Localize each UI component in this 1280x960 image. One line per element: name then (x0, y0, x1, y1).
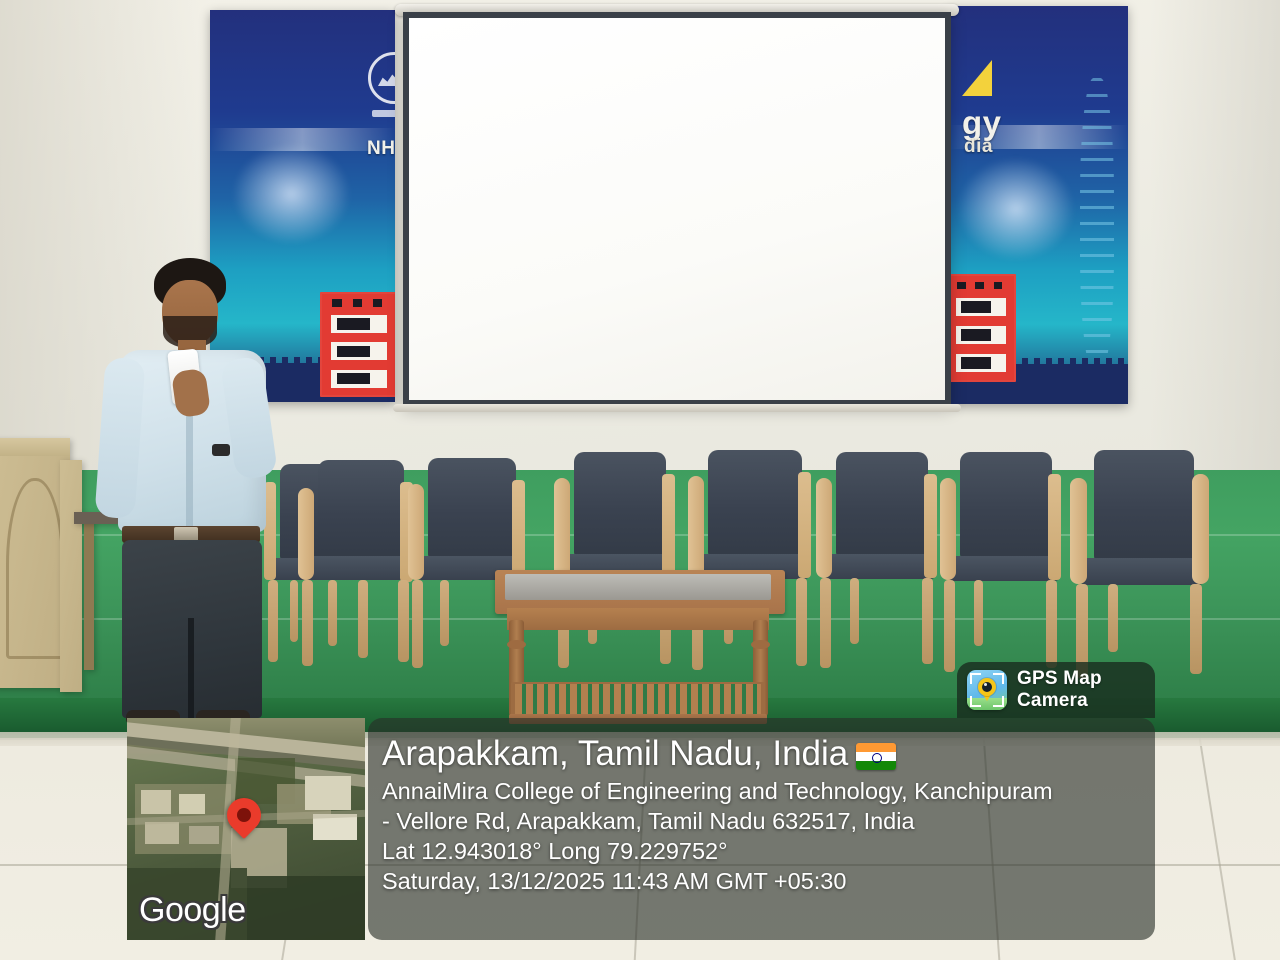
coffee-table (495, 570, 785, 735)
gps-map-camera-badge: GPS Map Camera (957, 662, 1155, 718)
location-title: Arapakkam, Tamil Nadu, India (382, 734, 848, 773)
location-title-row: Arapakkam, Tamil Nadu, India (382, 732, 1155, 776)
banner-left-logo-bar (372, 110, 395, 117)
table-shelf-slats (515, 684, 761, 714)
chair (930, 452, 1068, 676)
projector-screen-surface (409, 18, 945, 400)
gps-map-camera-label: GPS Map Camera (1017, 668, 1155, 712)
banner-right-label-2: dia (964, 136, 993, 158)
chair (1062, 450, 1214, 678)
banner-right-building (950, 274, 1016, 382)
india-flag-icon (856, 743, 896, 770)
address-line-2: - Vellore Rd, Arapakkam, Tamil Nadu 6325… (382, 806, 1155, 836)
location-info-overlay: Arapakkam, Tamil Nadu, India AnnaiMira C… (368, 718, 1155, 940)
chair (808, 452, 944, 674)
banner-right-glare (957, 157, 1074, 260)
wristwatch (212, 444, 230, 456)
banner-right-triangle-icon (962, 60, 992, 96)
trouser-gap (188, 618, 194, 718)
timestamp-line: Saturday, 13/12/2025 11:43 AM GMT +05:30 (382, 866, 1155, 896)
photo-canvas: NH gy dia (0, 0, 1280, 960)
banner-left-label: NH (367, 138, 395, 160)
google-watermark: Google (139, 891, 246, 930)
coordinates-line: Lat 12.943018° Long 79.229752° (382, 836, 1155, 866)
banner-right: gy dia (950, 6, 1128, 404)
banner-right-dot-pattern (1080, 78, 1114, 373)
table-glass-insert (505, 574, 771, 600)
presenter-person (78, 258, 298, 728)
address-line-1: AnnaiMira College of Engineering and Tec… (382, 776, 1155, 806)
projector-screen-bottom-bar (393, 404, 961, 412)
gps-map-camera-app-icon (967, 670, 1007, 710)
projector-screen-border (403, 12, 951, 406)
table-apron (507, 608, 769, 630)
projector-screen (403, 4, 951, 412)
map-thumbnail[interactable]: Google (127, 718, 365, 940)
banner-left-glare (232, 143, 350, 245)
banner-left-building (320, 292, 395, 397)
